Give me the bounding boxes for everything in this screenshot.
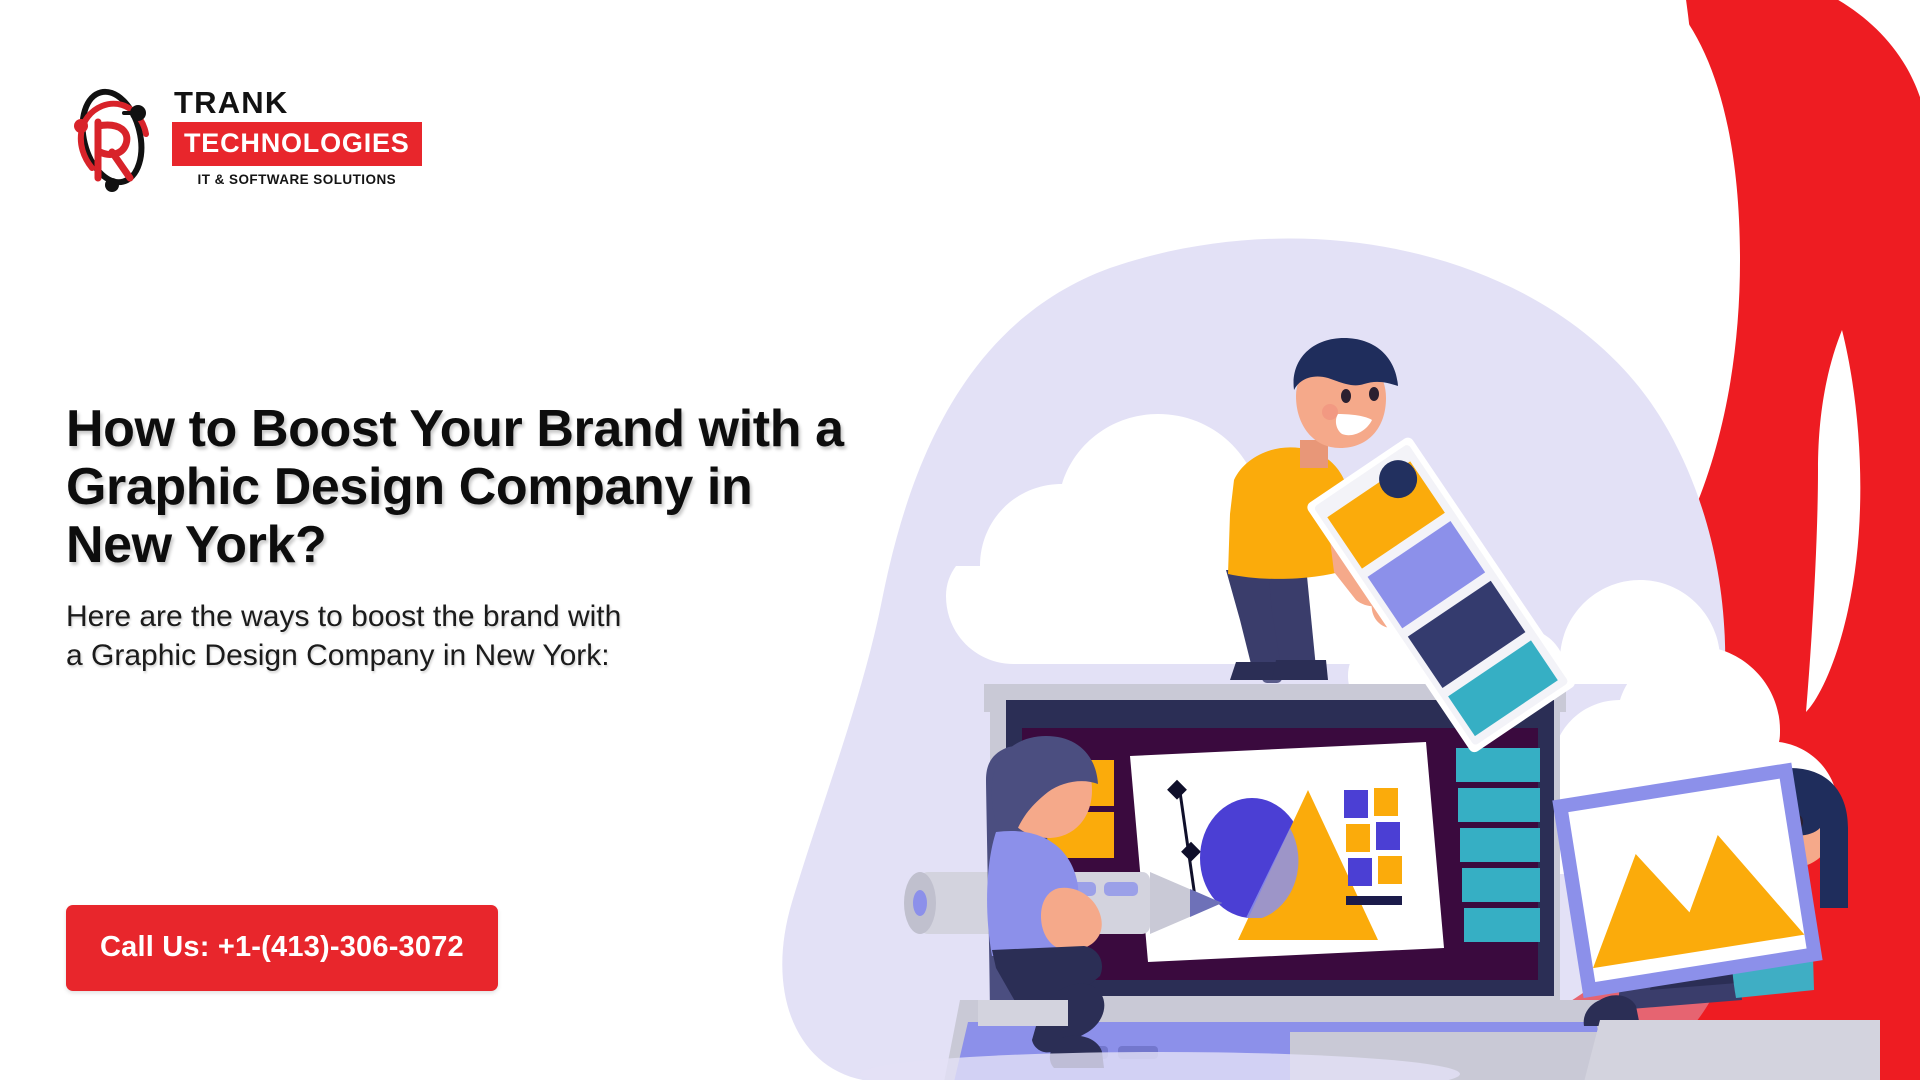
page-headline: How to Boost Your Brand with a Graphic D… xyxy=(66,400,856,575)
brand-logo[interactable]: TRANK TECHNOLOGIES IT & SOFTWARE SOLUTIO… xyxy=(68,82,422,192)
logo-name-band: TECHNOLOGIES xyxy=(172,122,422,166)
copy-block: How to Boost Your Brand with a Graphic D… xyxy=(66,400,896,675)
call-us-button[interactable]: Call Us: +1-(413)-306-3072 xyxy=(66,905,498,991)
logo-wordmark: TRANK TECHNOLOGIES IT & SOFTWARE SOLUTIO… xyxy=(172,87,422,187)
logo-name-top: TRANK xyxy=(172,87,289,118)
layers-panel xyxy=(1456,748,1550,942)
figure-woman-at-laptop xyxy=(978,736,1104,1068)
page-subhead: Here are the ways to boost the brand wit… xyxy=(66,597,646,675)
atom-orbit-logo-icon xyxy=(68,82,160,192)
logo-tagline: IT & SOFTWARE SOLUTIONS xyxy=(172,172,422,187)
poster-canvas: TRANK TECHNOLOGIES IT & SOFTWARE SOLUTIO… xyxy=(0,0,1920,1080)
